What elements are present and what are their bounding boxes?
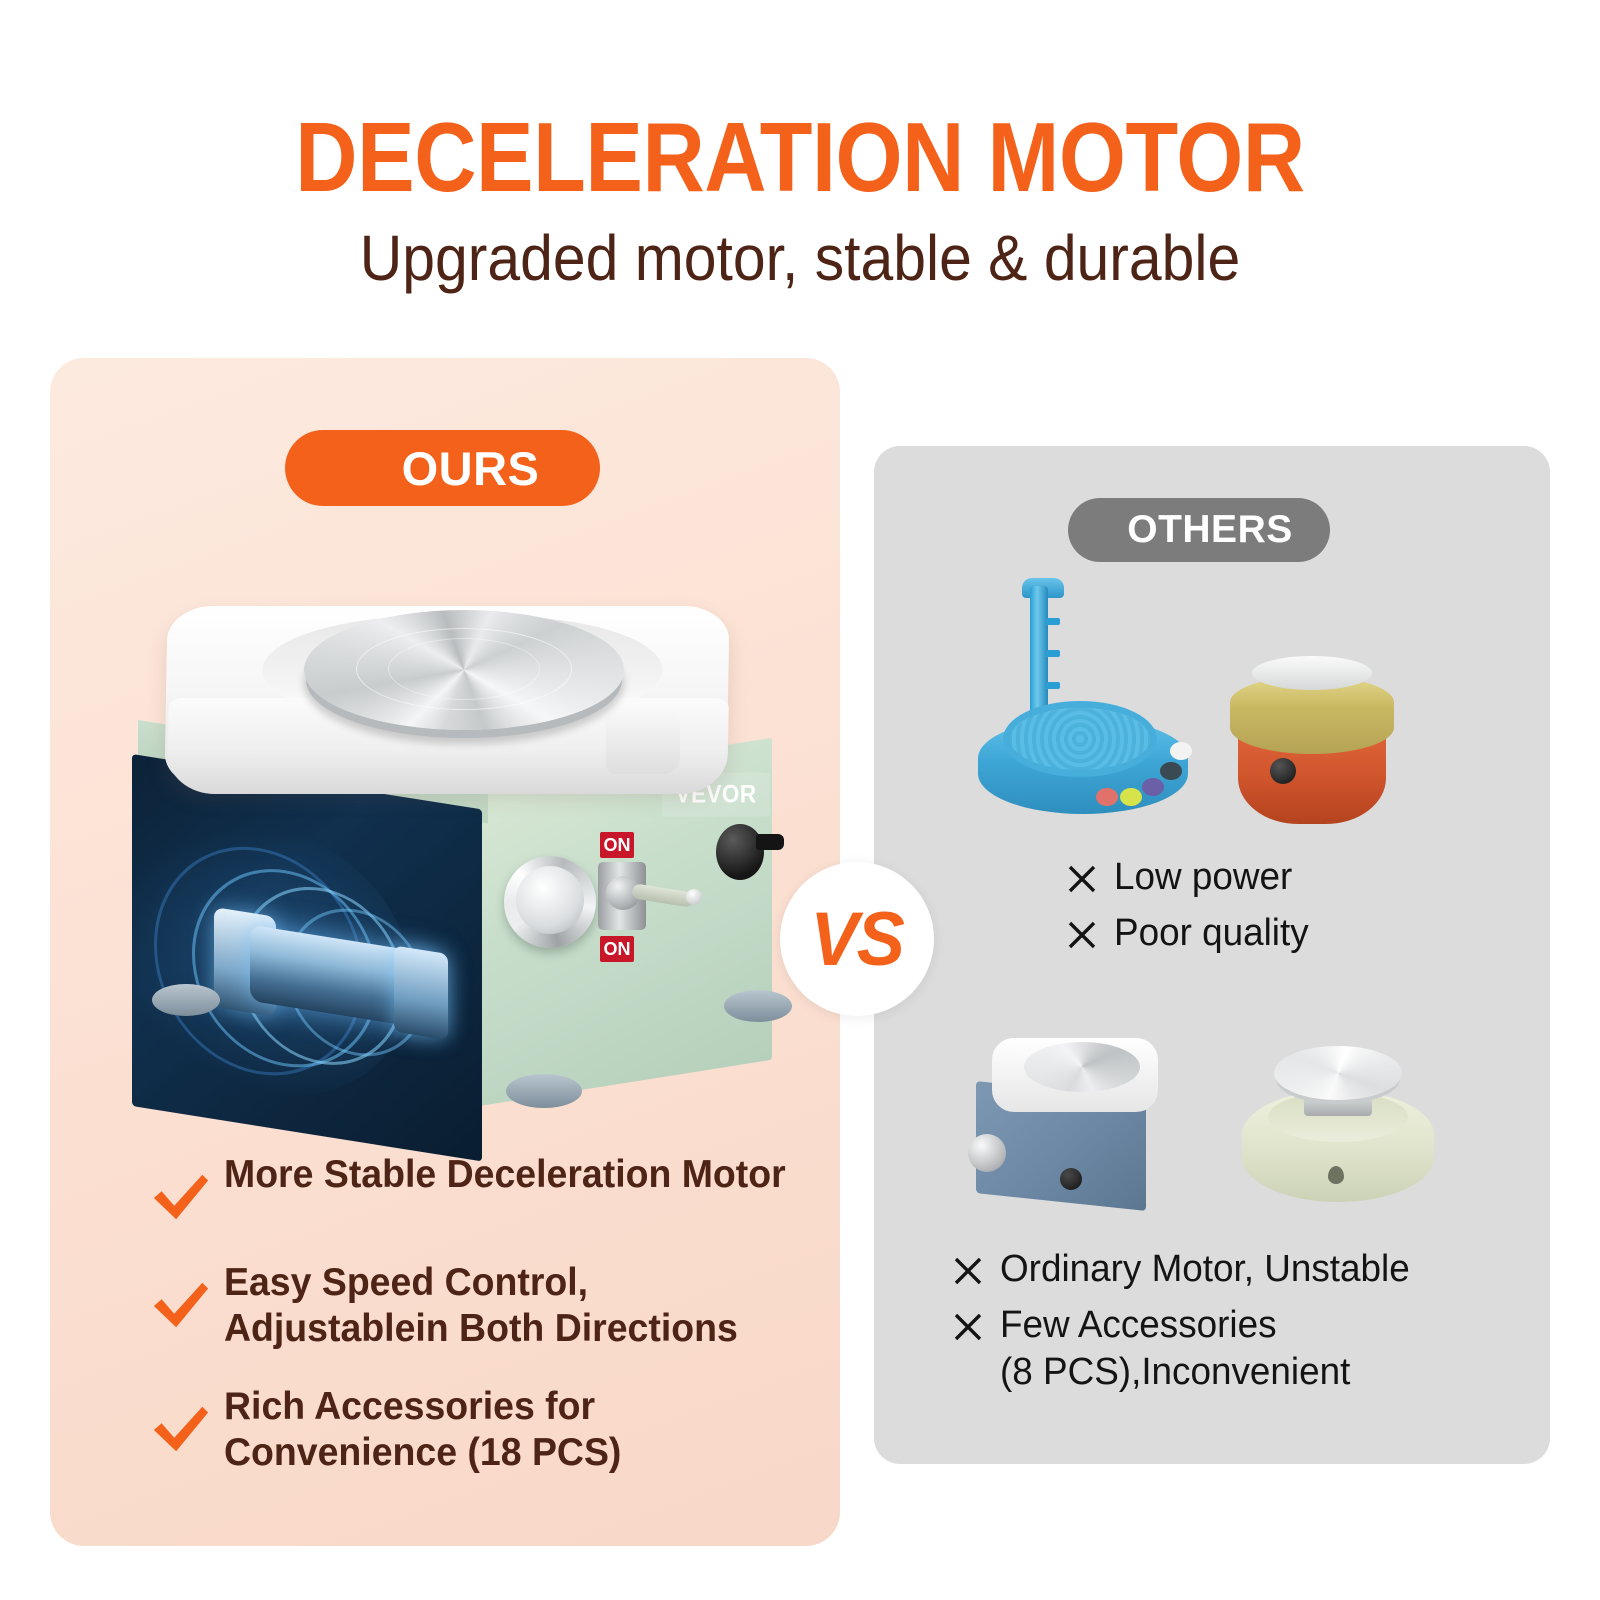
con-item: Few Accessories (8 PCS),Inconvenient: [952, 1302, 1422, 1395]
blue-box-black-knob: [1060, 1168, 1082, 1190]
pole-tab: [1046, 650, 1060, 657]
product-motor-graphic-face: [132, 754, 482, 1161]
switch-label-on-top: ON: [600, 832, 634, 858]
others-badge: OTHERS: [1068, 498, 1330, 562]
blue-box-knob: [968, 1134, 1006, 1172]
others-cons-bottom: Ordinary Motor, Unstable Few Accessories…: [952, 1246, 1422, 1405]
x-icon: [952, 1311, 984, 1343]
speed-knob-face: [516, 866, 584, 934]
infographic-root: DECELERATION MOTOR Upgraded motor, stabl…: [0, 0, 1600, 1600]
speed-control-knob[interactable]: [504, 856, 596, 948]
product-foot-front: [506, 1074, 582, 1108]
check-icon: [150, 1274, 212, 1336]
con-label: Poor quality: [1114, 910, 1309, 956]
other-product-gold-orange-wheel: [1222, 654, 1402, 834]
product-foot-right: [724, 990, 792, 1022]
paint-pot: [1160, 762, 1182, 780]
header: DECELERATION MOTOR Upgraded motor, stabl…: [0, 0, 1600, 330]
ours-feature-list: More Stable Deceleration Motor Easy Spee…: [150, 1152, 830, 1508]
paint-pot: [1142, 778, 1164, 796]
pole-tab: [1046, 618, 1060, 625]
blue-box-wheel-head: [1024, 1042, 1140, 1092]
motor-gear-right: [394, 945, 448, 1040]
con-label: Ordinary Motor, Unstable: [1000, 1246, 1410, 1292]
paint-pot: [1096, 788, 1118, 806]
green-wheel-switch: [1328, 1166, 1344, 1184]
con-label: Few Accessories (8 PCS),Inconvenient: [1000, 1302, 1350, 1395]
gold-wheel-disc: [1252, 656, 1372, 690]
feature-label: More Stable Deceleration Motor: [224, 1152, 786, 1198]
other-product-blue-box-wheel: [940, 1028, 1170, 1228]
switch-label-on-bottom: ON: [600, 936, 634, 962]
paint-pot: [1170, 742, 1192, 760]
page-title: DECELERATION MOTOR: [96, 108, 1504, 206]
blue-turntable: [1010, 708, 1150, 770]
x-icon: [952, 1255, 984, 1287]
green-wheel-disc: [1274, 1046, 1402, 1100]
check-icon: [150, 1166, 212, 1228]
con-item: Low power: [1066, 854, 1315, 900]
vs-label: VS: [811, 896, 904, 983]
ours-product-image: VEVOR ON ON: [108, 588, 788, 1108]
wheel-head-ring-inner: [388, 638, 540, 700]
con-label: Low power: [1114, 854, 1292, 900]
con-item: Poor quality: [1066, 910, 1315, 956]
feature-item: More Stable Deceleration Motor: [150, 1152, 830, 1228]
x-icon: [1066, 863, 1098, 895]
feature-label: Easy Speed Control, Adjustablein Both Di…: [224, 1260, 806, 1352]
black-control-knob[interactable]: [716, 824, 764, 880]
black-knob-tab: [756, 834, 784, 850]
product-foot-left: [152, 984, 220, 1016]
other-product-blue-toy-wheel: [978, 578, 1188, 828]
other-product-green-round-wheel: [1238, 1038, 1438, 1218]
pole-tab: [1046, 682, 1060, 689]
feature-label: Rich Accessories for Convenience (18 PCS…: [224, 1384, 806, 1476]
feature-item: Easy Speed Control, Adjustablein Both Di…: [150, 1260, 830, 1352]
page-subtitle: Upgraded motor, stable & durable: [64, 226, 1536, 290]
aluminum-wheel-head: [304, 610, 624, 730]
x-icon: [1066, 919, 1098, 951]
splash-pan-notch: [606, 712, 680, 774]
check-icon: [150, 1398, 212, 1460]
feature-item: Rich Accessories for Convenience (18 PCS…: [150, 1384, 830, 1476]
gold-wheel-knob: [1270, 758, 1296, 784]
others-cons-top: Low power Poor quality: [1066, 854, 1315, 967]
vs-badge: VS: [780, 862, 934, 1016]
paint-pot: [1120, 788, 1142, 806]
ours-badge: OURS: [285, 430, 600, 506]
con-item: Ordinary Motor, Unstable: [952, 1246, 1422, 1292]
